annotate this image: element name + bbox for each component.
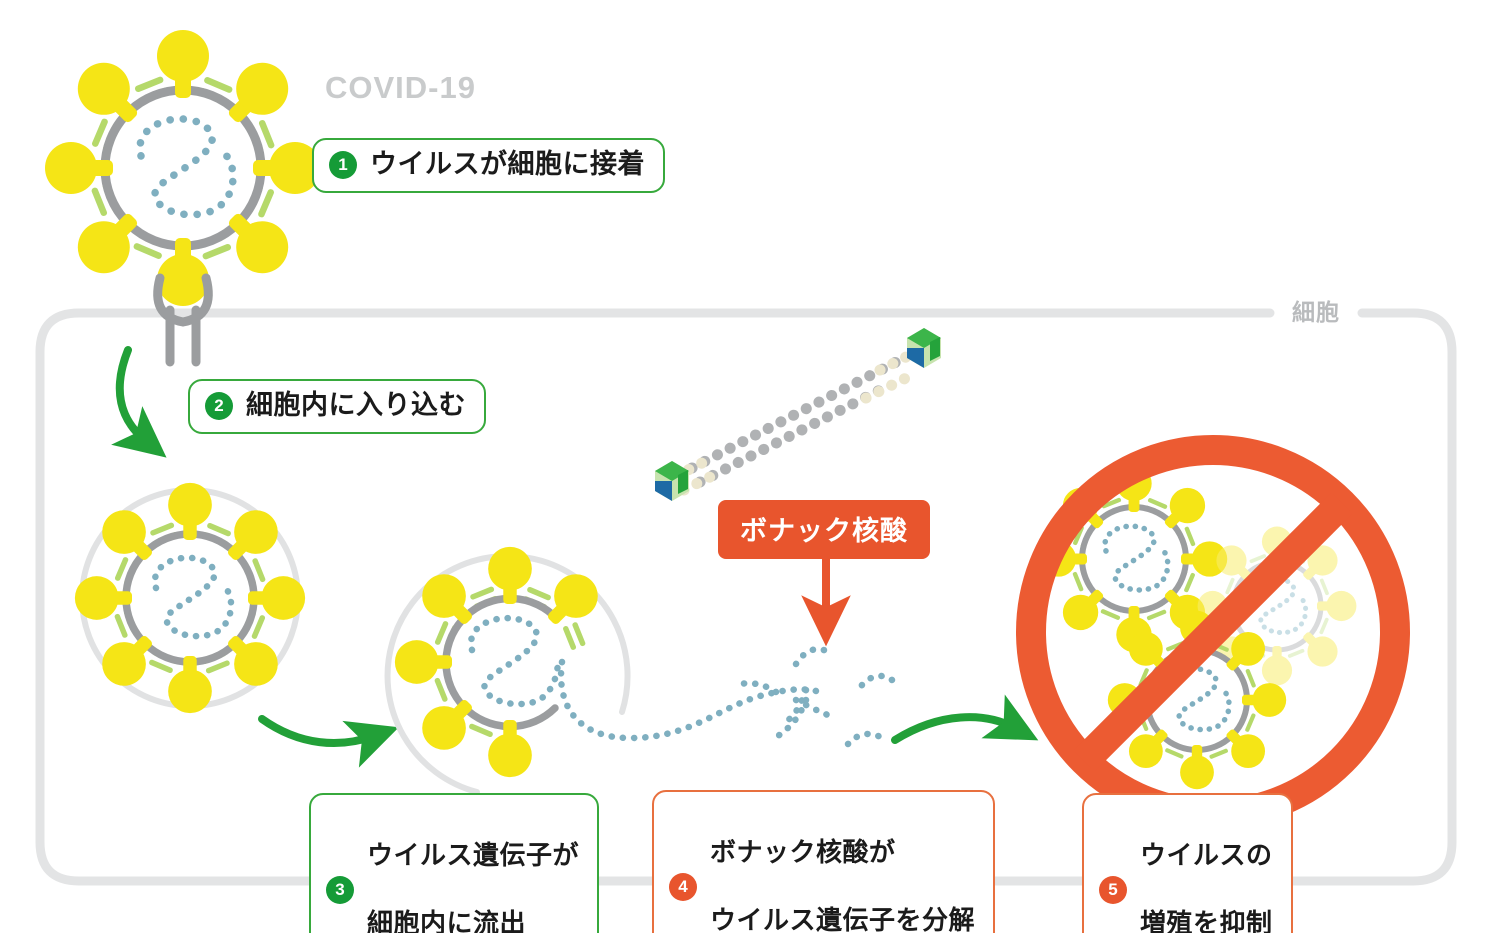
step-1-number: 1 bbox=[329, 151, 357, 179]
arrow-step1-to-step2 bbox=[120, 350, 146, 441]
step-2-label: 細胞内に入り込む bbox=[246, 390, 466, 421]
step-4-number: 4 bbox=[669, 873, 697, 901]
arrow-step2-to-step3 bbox=[262, 719, 374, 743]
step-3-callout[interactable]: 3 ウイルス遺伝子が 細胞内に流出 bbox=[309, 793, 599, 933]
step-4-callout[interactable]: 4 ボナック核酸が ウイルス遺伝子を分解 bbox=[652, 790, 995, 933]
step-5-label: ウイルスの 増殖を抑制 bbox=[1140, 804, 1273, 933]
step-3-label-line1: ウイルス遺伝子が bbox=[367, 840, 579, 872]
step-5-label-line2: 増殖を抑制 bbox=[1140, 908, 1273, 933]
diagram-canvas: COVID-19 細胞 1 ウイルスが細胞に接着 2 細胞内に入り込む 3 ウイ… bbox=[0, 0, 1500, 933]
viral-rna-strand bbox=[561, 662, 820, 738]
virus-particle-internalized bbox=[75, 483, 305, 713]
covid19-title-label: COVID-19 bbox=[325, 72, 476, 103]
bonac-nucleic-acid-label[interactable]: ボナック核酸 bbox=[718, 500, 930, 559]
step-4-label: ボナック核酸が ウイルス遺伝子を分解 bbox=[710, 801, 975, 933]
virus-particle-attaching bbox=[45, 30, 321, 306]
prohibition-sign-icon bbox=[1031, 450, 1395, 814]
cell-label: 細胞 bbox=[1292, 301, 1340, 324]
bonac-cap-right bbox=[907, 328, 941, 368]
step-1-callout[interactable]: 1 ウイルスが細胞に接着 bbox=[312, 138, 665, 193]
step-2-callout[interactable]: 2 細胞内に入り込む bbox=[188, 379, 486, 434]
step-1-label: ウイルスが細胞に接着 bbox=[370, 149, 645, 180]
step-4-label-line2: ウイルス遺伝子を分解 bbox=[710, 905, 975, 933]
step-5-callout[interactable]: 5 ウイルスの 増殖を抑制 bbox=[1082, 793, 1293, 933]
step-3-label: ウイルス遺伝子が 細胞内に流出 bbox=[367, 804, 579, 933]
step-5-number: 5 bbox=[1099, 876, 1127, 904]
step-4-label-line1: ボナック核酸が bbox=[710, 837, 975, 869]
step-2-number: 2 bbox=[205, 392, 233, 420]
step-3-label-line2: 細胞内に流出 bbox=[367, 908, 579, 933]
bonac-nucleic-acid-molecule bbox=[655, 328, 941, 501]
step-5-label-line1: ウイルスの bbox=[1140, 840, 1273, 872]
virus-particle-ruptured bbox=[388, 547, 628, 792]
arrow-step4-to-step5 bbox=[895, 717, 1015, 740]
step-3-number: 3 bbox=[326, 876, 354, 904]
replication-blocked-group bbox=[1031, 450, 1395, 814]
